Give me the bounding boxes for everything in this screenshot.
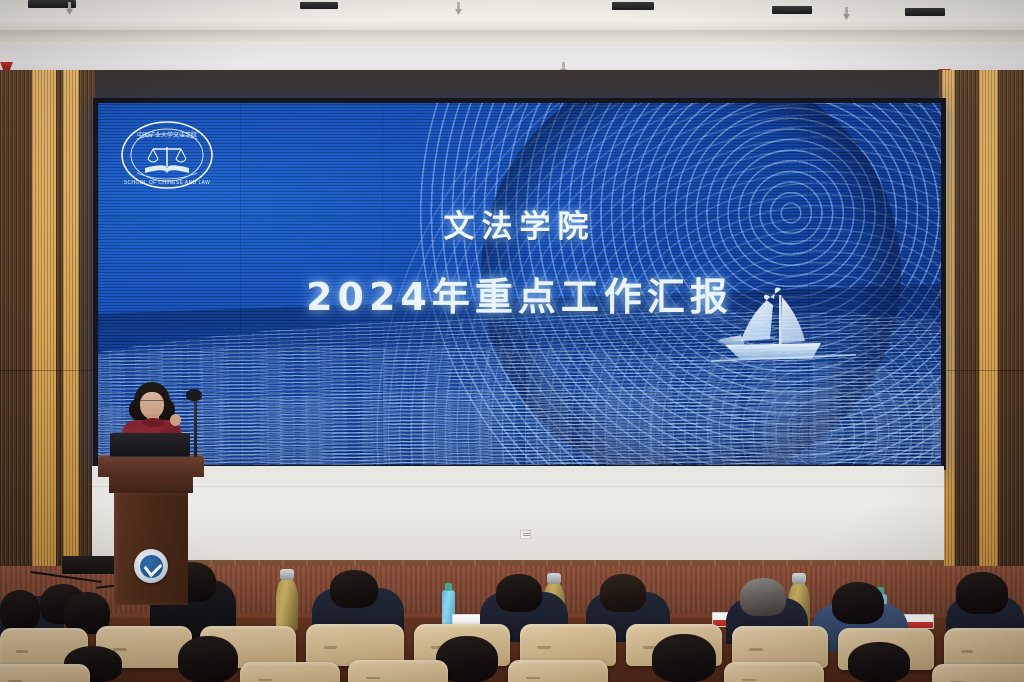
gold-thermos-flask (276, 578, 298, 632)
auditorium-seat (348, 660, 448, 682)
wood-slat-dark (56, 70, 63, 618)
scale-pan-right (176, 149, 186, 162)
auditorium-seat (240, 662, 340, 682)
laptop-computer (110, 433, 190, 457)
auditorium-seat (932, 664, 1024, 682)
wood-slat-dark (955, 70, 979, 618)
university-emblem-mark (140, 555, 163, 578)
school-of-chinese-and-law-emblem: 中国矿业大学文法学院 SCHOOL OF CHINESE AND LAW (119, 119, 215, 191)
power-outlet (520, 530, 531, 539)
university-emblem (134, 549, 168, 583)
emblem-outer-text: SCHOOL OF CHINESE AND LAW (124, 180, 211, 186)
lectern-top (98, 455, 204, 477)
audience-head (0, 590, 40, 630)
emblem-top-text: 中国矿业大学文法学院 (137, 131, 197, 139)
hand (170, 414, 181, 426)
audience-head (848, 642, 910, 682)
audience-head (496, 574, 542, 612)
ceiling-far-section (0, 0, 1024, 34)
lectern (98, 455, 204, 605)
audience-head (652, 634, 716, 682)
ceiling-speaker (300, 2, 338, 9)
gooseneck-microphone (194, 395, 197, 457)
slide-title-line1: 文法学院 (98, 201, 941, 246)
auditorium-seat (724, 662, 824, 682)
led-display-screen: 中国矿业大学文法学院 SCHOOL OF CHINESE AND LAW 文法学… (93, 98, 946, 470)
sprinkler-head (843, 7, 850, 20)
auditorium-photo: 中国矿业大学文法学院 SCHOOL OF CHINESE AND LAW 文法学… (0, 0, 1024, 682)
wall-trim-line (92, 486, 944, 487)
audience-head (600, 574, 646, 612)
left-wood-wall (0, 70, 96, 618)
slide-title-line2: 2024年重点工作汇报 (98, 266, 941, 321)
audience-head (330, 570, 378, 608)
stage-lower-wall (92, 466, 944, 566)
wood-slat-lit (979, 70, 998, 618)
ceiling-speaker (772, 6, 812, 14)
wood-slat-dark (0, 70, 32, 618)
audience-head (956, 572, 1008, 614)
sprinkler-head (455, 2, 462, 15)
wood-slat-dark (998, 70, 1024, 618)
audience-head (832, 582, 884, 624)
auditorium-seat (0, 664, 90, 682)
microphone-head (186, 389, 202, 401)
ceiling-speaker (612, 2, 654, 10)
slide-title-block: 文法学院 2024年重点工作汇报 (98, 201, 941, 321)
auditorium-seat (508, 660, 608, 682)
ceiling-speaker (905, 8, 945, 16)
emblem-svg: 中国矿业大学文法学院 SCHOOL OF CHINESE AND LAW (119, 119, 215, 191)
audience-head (740, 578, 786, 616)
audience-head (178, 636, 238, 682)
scale-pan-left (148, 149, 158, 162)
lectern-neck (109, 477, 193, 493)
wood-slat-lit (32, 70, 56, 618)
wall-seam (938, 370, 1024, 371)
glasses (141, 400, 163, 406)
lectern-body (114, 493, 188, 605)
wood-slat-lit (63, 70, 79, 618)
slide-surface: 中国矿业大学文法学院 SCHOOL OF CHINESE AND LAW 文法学… (98, 103, 941, 465)
sprinkler-head (66, 2, 73, 15)
wall-seam (0, 370, 96, 371)
right-wood-wall (938, 70, 1024, 618)
